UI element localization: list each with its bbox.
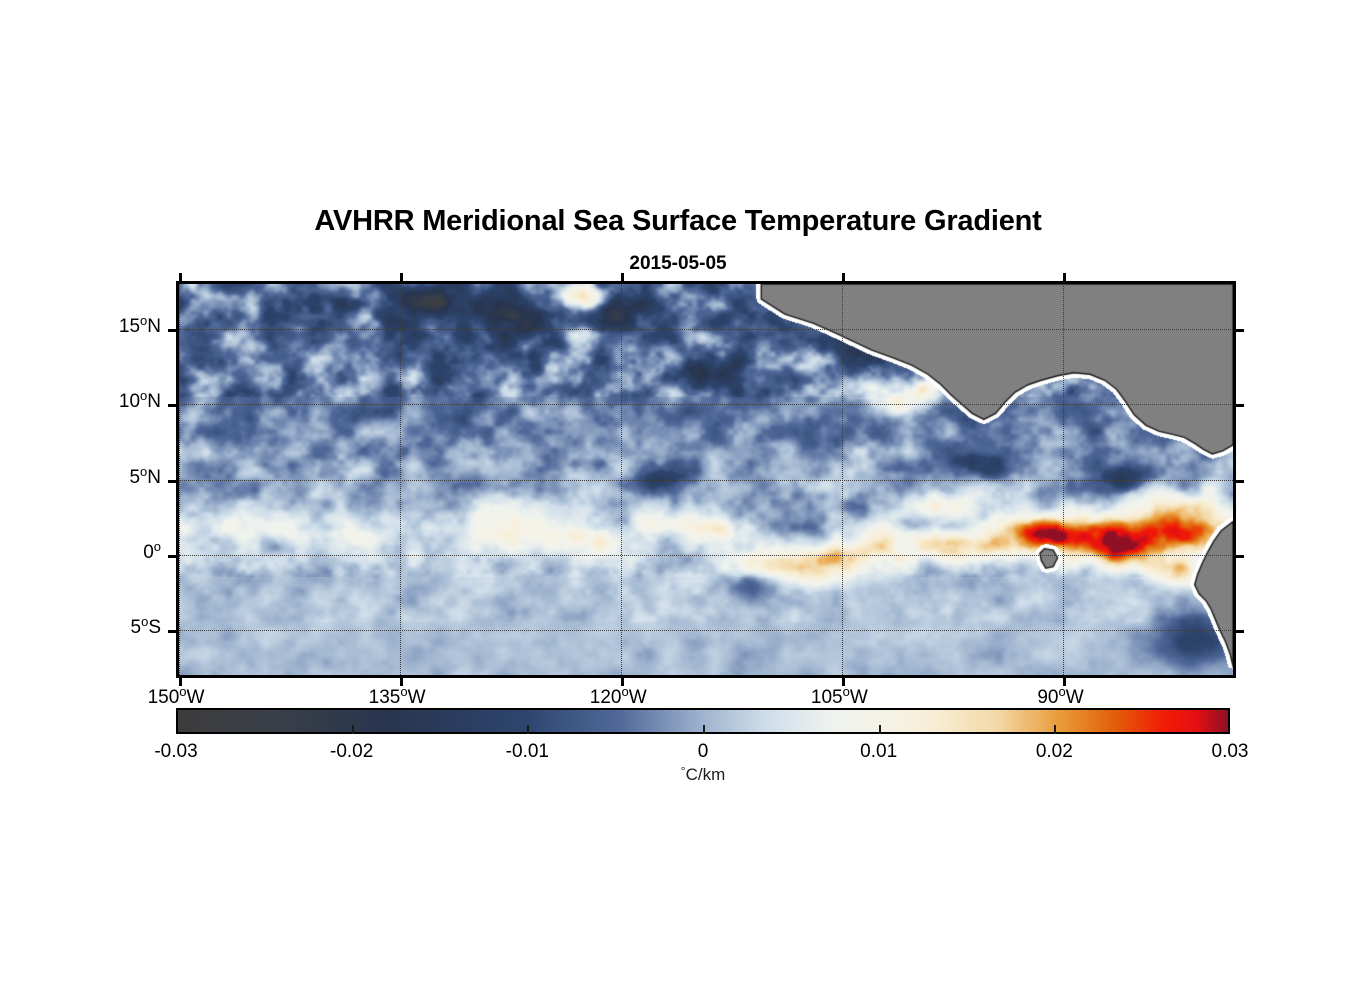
colorbar-label-0.01: 0.01 — [809, 741, 949, 763]
colorbar-label-0.03: 0.03 — [1160, 741, 1300, 763]
tick-left-lat-15 — [168, 329, 179, 332]
colorbar-tick-0.02 — [1054, 725, 1056, 734]
colorbar-label-0: 0 — [633, 741, 773, 763]
tick-top-lon-120 — [621, 273, 624, 284]
colorbar-tick--0.01 — [527, 725, 529, 734]
tick-right-lat-10 — [1233, 404, 1244, 407]
tick-right-lat-15 — [1233, 329, 1244, 332]
tick-right-lat-5 — [1233, 630, 1244, 633]
tick-right-lat-5 — [1233, 480, 1244, 483]
y-tick-label-5S: 5oS — [16, 614, 161, 639]
figure-canvas: AVHRR Meridional Sea Surface Temperature… — [0, 0, 1356, 1000]
tick-left-lat-0 — [168, 555, 179, 558]
colorbar[interactable]: -0.03-0.02-0.0100.010.020.03 °C/km — [176, 708, 1230, 734]
y-tick-label-0eq: 0o — [16, 539, 161, 564]
y-tick-label-5N: 5oN — [16, 464, 161, 489]
figure-date-subtitle: 2015-05-05 — [0, 253, 1356, 275]
colorbar-tick--0.02 — [352, 725, 354, 734]
x-tick-label-90W: 90oW — [990, 684, 1130, 709]
sst-gradient-heatmap — [179, 284, 1233, 675]
tick-top-lon-90 — [1063, 273, 1066, 284]
tick-top-lon-150 — [179, 273, 182, 284]
colorbar-tick-0.01 — [879, 725, 881, 734]
y-tick-label-10N: 10oN — [16, 388, 161, 413]
tick-left-lat-5 — [168, 630, 179, 633]
colorbar-tick-0 — [703, 725, 705, 734]
tick-top-lon-105 — [842, 273, 845, 284]
y-tick-label-15N: 15oN — [16, 313, 161, 338]
map-axes — [176, 281, 1236, 678]
colorbar-label--0.02: -0.02 — [282, 741, 422, 763]
colorbar-label--0.01: -0.01 — [457, 741, 597, 763]
x-tick-label-150W: 150oW — [106, 684, 246, 709]
x-tick-label-105W: 105oW — [769, 684, 909, 709]
colorbar-label-0.02: 0.02 — [984, 741, 1124, 763]
x-tick-label-135W: 135oW — [327, 684, 467, 709]
colorbar-unit-label: °C/km — [176, 764, 1230, 785]
tick-right-lat-0 — [1233, 555, 1244, 558]
tick-left-lat-5 — [168, 480, 179, 483]
x-tick-label-120W: 120oW — [548, 684, 688, 709]
tick-top-lon-135 — [400, 273, 403, 284]
tick-left-lat-10 — [168, 404, 179, 407]
page-title: AVHRR Meridional Sea Surface Temperature… — [0, 205, 1356, 238]
colorbar-label--0.03: -0.03 — [106, 741, 246, 763]
colorbar-unit-text: C/km — [686, 765, 726, 784]
